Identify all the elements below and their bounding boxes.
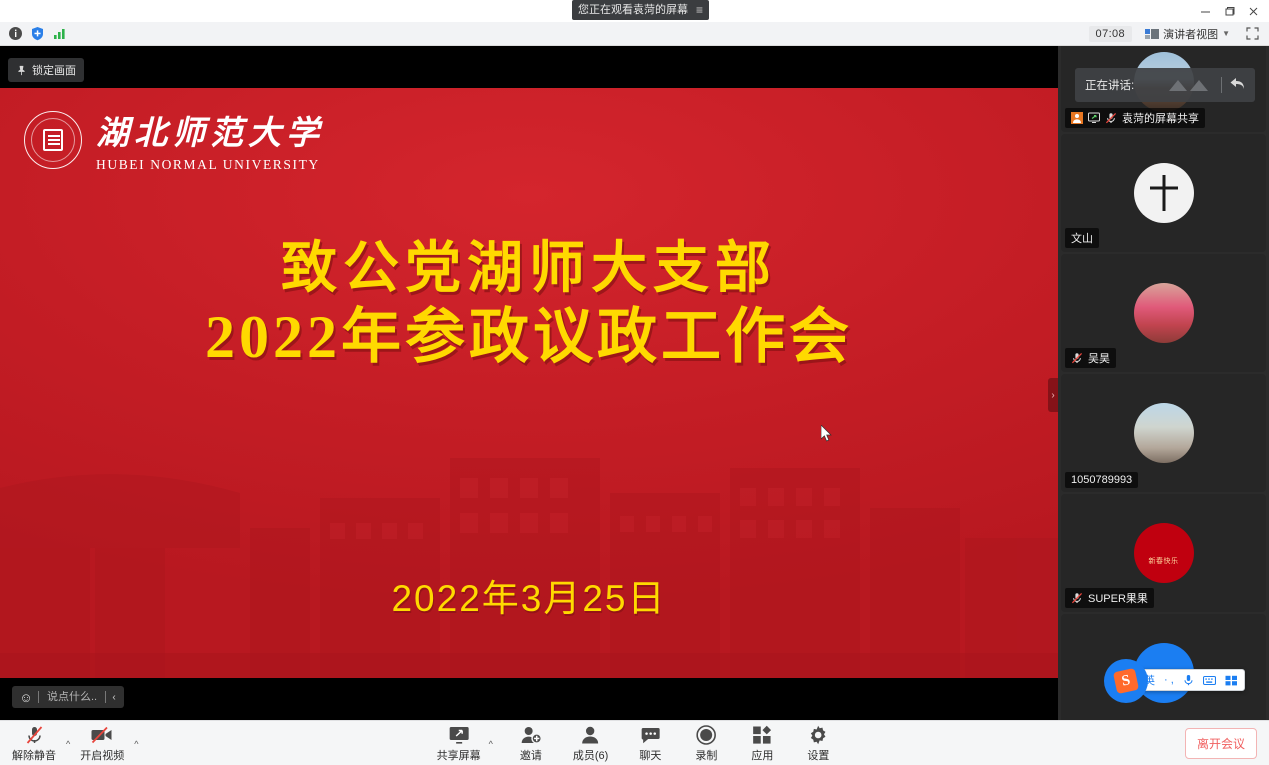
filmstrip-collapse-handle[interactable]: › [1048, 378, 1058, 412]
person-highlight-icon [1071, 112, 1083, 124]
participant-name-0: 袁菏的屏幕共享 [1122, 110, 1199, 126]
university-logo-text: 湖北师范大学 HUBEI NORMAL UNIVERSITY [96, 106, 324, 173]
lock-screen-button[interactable]: 锁定画面 [8, 58, 84, 82]
viewing-screen-tooltip: 您正在观看袁菏的屏幕 ≡ [572, 0, 709, 20]
slide-title-line2: 2022年参政议政工作会 [0, 302, 1058, 373]
record-circle-icon [696, 725, 716, 745]
meeting-status-bar: 07:08 演讲者视图 ▼ [0, 22, 1269, 46]
ime-punctuation-toggle[interactable]: · , [1164, 674, 1174, 686]
pin-icon [16, 65, 27, 76]
settings-label: 设置 [807, 747, 829, 763]
smiley-icon[interactable]: ☺ [14, 686, 38, 708]
participant-name-pill-2: 吴昊 [1065, 348, 1116, 368]
participant-name-pill-1: 文山 [1065, 228, 1099, 248]
chat-bubble-icon [640, 725, 661, 745]
mic-muted-icon [25, 725, 44, 745]
university-logo: 湖北师范大学 HUBEI NORMAL UNIVERSITY [24, 106, 324, 173]
participant-name-pill-3: 1050789993 [1065, 472, 1138, 488]
avatar-caption: 新春快乐 [1134, 556, 1194, 566]
meeting-timer: 07:08 [1089, 26, 1133, 42]
quick-chat-input[interactable] [39, 691, 105, 703]
sogou-logo-icon[interactable]: S [1104, 659, 1148, 703]
status-bar-right: 07:08 演讲者视图 ▼ [1089, 24, 1269, 44]
participant-name-pill-0: 袁菏的屏幕共享 [1065, 108, 1205, 128]
chevron-down-icon: ▼ [1222, 29, 1230, 38]
participant-tile-2[interactable]: 吴昊 [1061, 254, 1266, 372]
avatar: 新春快乐 [1134, 523, 1194, 583]
settings-button[interactable]: 设置 [798, 722, 838, 765]
meeting-toolbar: 解除静音 ^ 开启视频 ^ 共享屏幕 ^ [0, 720, 1269, 765]
share-screen-label: 共享屏幕 [437, 747, 481, 763]
presentation-slide: 湖北师范大学 HUBEI NORMAL UNIVERSITY 致公党湖师大支部 … [0, 88, 1058, 678]
shield-icon[interactable] [30, 26, 45, 41]
divider [1221, 77, 1222, 93]
record-label: 录制 [695, 747, 717, 763]
participant-tile-5[interactable] [1061, 614, 1266, 720]
chat-label: 聊天 [639, 747, 661, 763]
chat-button[interactable]: 聊天 [630, 722, 670, 765]
participant-name-3: 1050789993 [1071, 474, 1132, 486]
sogou-ime-bar[interactable]: S 英 · , [1117, 669, 1245, 691]
participant-filmstrip[interactable]: 正在讲话: 袁菏的屏幕共享 [1058, 46, 1269, 720]
avatar [1134, 163, 1194, 223]
toolbox-icon[interactable] [1225, 675, 1238, 686]
speaker-view-icon [1145, 28, 1159, 40]
gear-icon [808, 725, 828, 745]
view-mode-label: 演讲者视图 [1163, 26, 1218, 42]
invite-label: 邀请 [520, 747, 542, 763]
list-menu-icon[interactable]: ≡ [696, 0, 703, 20]
speaking-label: 正在讲话: [1085, 77, 1134, 93]
participant-tile-1[interactable]: 文山 [1061, 134, 1266, 252]
participant-tile-0[interactable]: 正在讲话: 袁菏的屏幕共享 [1061, 46, 1266, 132]
keyboard-icon[interactable] [1203, 675, 1216, 686]
mic-muted-icon [1105, 112, 1117, 124]
participant-name-4: SUPER果果 [1088, 590, 1148, 606]
apps-label: 应用 [751, 747, 773, 763]
mute-toggle-button[interactable]: 解除静音 [6, 722, 62, 765]
mouse-cursor [821, 425, 833, 443]
participant-name-1: 文山 [1071, 230, 1093, 246]
slide-title-line1: 致公党湖师大支部 [0, 236, 1058, 302]
quick-chat-bar: ☺ ‹ [12, 686, 124, 708]
camera-off-icon [90, 725, 114, 745]
slide-date: 2022年3月25日 [0, 568, 1058, 622]
toolbar-center-group: 共享屏幕 ^ 邀请 成员(6) 聊天 [431, 722, 839, 765]
invite-button[interactable]: 邀请 [511, 722, 551, 765]
university-crest-icon [24, 111, 82, 169]
mic-options-chevron-icon[interactable]: ^ [64, 737, 72, 751]
title-bar: 您正在观看袁菏的屏幕 ≡ [0, 0, 1269, 22]
avatar [1134, 283, 1194, 343]
toolbar-left-group: 解除静音 ^ 开启视频 ^ [0, 722, 140, 765]
slide-title: 致公党湖师大支部 2022年参政议政工作会 [0, 236, 1058, 373]
video-toggle-label: 开启视频 [80, 747, 124, 763]
avatar [1134, 403, 1194, 463]
share-options-chevron-icon[interactable]: ^ [487, 737, 495, 751]
mic-muted-icon [1071, 352, 1083, 364]
shared-screen-stage: 锁定画面 [0, 46, 1058, 720]
participants-button[interactable]: 成员(6) [567, 722, 614, 765]
share-screen-button[interactable]: 共享屏幕 [431, 722, 487, 765]
leave-meeting-button[interactable]: 离开会议 [1185, 728, 1257, 759]
share-screen-icon [448, 725, 470, 745]
campus-skyline-artwork [0, 398, 1058, 678]
meeting-window: 您正在观看袁菏的屏幕 ≡ [0, 0, 1269, 765]
speaking-overlay: 正在讲话: [1075, 68, 1255, 102]
info-icon[interactable] [8, 26, 23, 41]
university-name-cn: 湖北师范大学 [96, 106, 324, 154]
close-icon[interactable] [1241, 0, 1265, 22]
invite-person-icon [520, 725, 542, 745]
participant-name-2: 吴昊 [1088, 350, 1110, 366]
viewing-screen-label: 您正在观看袁菏的屏幕 [578, 0, 688, 20]
participant-tile-3[interactable]: 1050789993 [1061, 374, 1266, 492]
status-icon-group [0, 26, 67, 41]
fullscreen-icon[interactable] [1243, 26, 1261, 42]
participant-tile-4[interactable]: 新春快乐 SUPER果果 [1061, 494, 1266, 612]
view-mode-switch[interactable]: 演讲者视图 ▼ [1140, 24, 1235, 44]
apps-grid-icon [752, 725, 772, 745]
signal-bars-icon[interactable] [52, 26, 67, 41]
chevron-left-icon[interactable]: ‹ [106, 686, 122, 708]
mic-muted-icon [1071, 592, 1083, 604]
video-toggle-button[interactable]: 开启视频 [74, 722, 130, 765]
maximize-icon[interactable] [1217, 0, 1241, 22]
minimize-icon[interactable] [1193, 0, 1217, 22]
camera-options-chevron-icon[interactable]: ^ [132, 737, 140, 751]
record-button[interactable]: 录制 [686, 722, 726, 765]
screen-share-icon [1088, 112, 1100, 124]
lock-screen-label: 锁定画面 [32, 62, 76, 78]
participants-label: 成员(6) [573, 747, 608, 763]
window-controls [1193, 0, 1265, 22]
mic-icon[interactable] [1183, 674, 1194, 686]
mute-toggle-label: 解除静音 [12, 747, 56, 763]
audio-wave-icon [1167, 77, 1213, 93]
apps-button[interactable]: 应用 [742, 722, 782, 765]
participant-name-pill-4: SUPER果果 [1065, 588, 1154, 608]
university-name-en: HUBEI NORMAL UNIVERSITY [96, 157, 324, 173]
reply-arrow-icon[interactable] [1230, 77, 1245, 93]
participants-icon [581, 725, 601, 745]
